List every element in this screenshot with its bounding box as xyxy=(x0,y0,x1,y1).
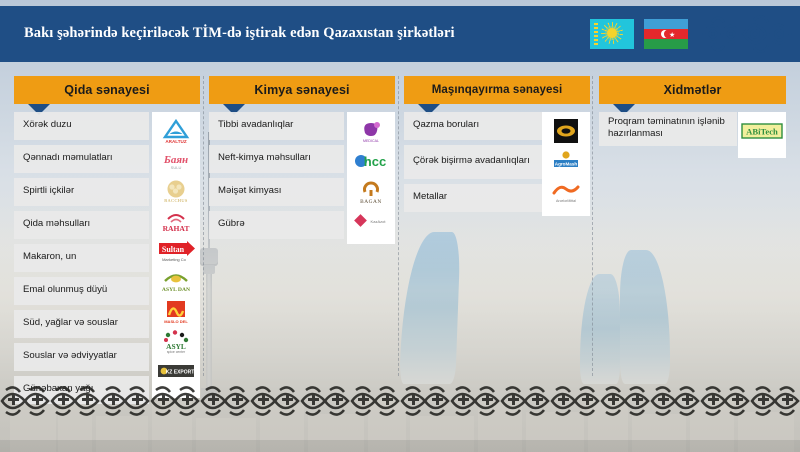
list-item[interactable]: Emal olunmuş düyü xyxy=(14,277,149,305)
column-title: Kimya sənayesi xyxy=(209,76,395,104)
column-services: Xidmətlər ABiTech Proqram təminatının iş… xyxy=(599,76,786,151)
abitech-logo: ABiTech xyxy=(740,116,784,146)
araltuz-logo: ARALTUZ xyxy=(154,116,198,146)
item-list: Proqram təminatının işlənib hazırlanması xyxy=(599,112,737,146)
list-item[interactable]: Neft-kimya məhsulları xyxy=(209,145,344,173)
drill-pipes-logo xyxy=(544,116,588,146)
list-item[interactable]: Qənnadı məmulatları xyxy=(14,145,149,173)
svg-text:KZ EXPORT: KZ EXPORT xyxy=(166,370,195,376)
arcelormittal-logo: ArcelorMittal xyxy=(544,176,588,206)
list-item[interactable]: Məişət kimyası xyxy=(209,178,344,206)
fertilizer-logo: KazAzot xyxy=(349,206,393,236)
logo-panel: MEDICAL hcc BAGAN xyxy=(347,112,395,244)
medical-equipment-logo: MEDICAL xyxy=(349,116,393,146)
column-food-industry: Qida sənayesi ARALTUZ Баян SULU xyxy=(14,76,200,409)
list-item[interactable]: Qazma boruları xyxy=(404,112,542,140)
column-title: Maşınqayırma sənayesi xyxy=(404,76,590,104)
bacchus-logo: BACCHUS xyxy=(154,176,198,206)
page-title: Bakı şəhərində keçiriləcək TİM-də iştira… xyxy=(0,23,590,44)
bhcc-logo: hcc xyxy=(349,146,393,176)
columns-area: Qida sənayesi ARALTUZ Баян SULU xyxy=(0,76,800,396)
list-item[interactable]: Spirtli içkilər xyxy=(14,178,149,206)
svg-text:MEDICAL: MEDICAL xyxy=(363,139,379,143)
column-separator-3 xyxy=(592,76,593,376)
svg-text:BACCHUS: BACCHUS xyxy=(164,198,188,203)
kazakhstan-flag xyxy=(590,19,634,49)
list-item[interactable]: Makaron, un xyxy=(14,244,149,272)
item-list: Xörək duzu Qənnadı məmulatları Spirtli i… xyxy=(14,112,149,404)
column-separator-2 xyxy=(398,76,399,376)
svg-text:AgroMash: AgroMash xyxy=(555,161,578,166)
list-item[interactable]: Proqram təminatının işlənib hazırlanması xyxy=(599,112,737,146)
rahat-logo: RAHAT xyxy=(154,206,198,236)
list-item[interactable]: Tibbi avadanlıqlar xyxy=(209,112,344,140)
bagan-logo: BAGAN xyxy=(349,176,393,206)
svg-text:BAGAN: BAGAN xyxy=(360,199,382,205)
list-item[interactable]: Metallar xyxy=(404,184,542,212)
maslo-del-logo: MASLO DEL xyxy=(154,296,198,326)
logo-panel: ARALTUZ Баян SULU xyxy=(152,112,200,398)
asyl-logo: ASYL spice center xyxy=(154,326,198,356)
header-flags: ★ xyxy=(590,6,800,62)
footer-strip xyxy=(0,440,800,452)
logo-panel: ABiTech xyxy=(738,112,786,158)
kz-export-logo: KZ EXPORT xyxy=(154,356,198,386)
column-title: Xidmətlər xyxy=(599,76,786,104)
column-separator-1 xyxy=(203,76,204,376)
svg-text:ASYL DAN: ASYL DAN xyxy=(162,287,190,293)
svg-text:Marketing Co: Marketing Co xyxy=(162,257,187,262)
logo-panel: AgroMash ArcelorMittal xyxy=(542,112,590,216)
svg-text:Sultan: Sultan xyxy=(162,245,185,254)
svg-text:SULU: SULU xyxy=(171,165,182,170)
svg-text:ARALTUZ: ARALTUZ xyxy=(165,139,187,144)
bakery-equip-logo: AgroMash xyxy=(544,146,588,176)
svg-text:RAHAT: RAHAT xyxy=(163,224,190,233)
list-item[interactable]: Xörək duzu xyxy=(14,112,149,140)
column-title: Qida sənayesi xyxy=(14,76,200,104)
list-item[interactable]: Souslar və ədviyyatlar xyxy=(14,343,149,371)
asyl-dan-logo: ASYL DAN xyxy=(154,266,198,296)
column-machinery-industry: Maşınqayırma sənayesi xyxy=(404,76,590,217)
item-list: Tibbi avadanlıqlar Neft-kimya məhsulları… xyxy=(209,112,344,239)
item-list: Qazma boruları Çörək bişirmə avadanlıqla… xyxy=(404,112,542,212)
azerbaijan-flag: ★ xyxy=(644,19,688,49)
sultan-logo: Sultan Marketing Co xyxy=(154,236,198,266)
header-bar: Bakı şəhərində keçiriləcək TİM-də iştira… xyxy=(0,6,800,62)
svg-text:ArcelorMittal: ArcelorMittal xyxy=(556,199,576,203)
svg-text:ABiTech: ABiTech xyxy=(746,127,778,137)
list-item[interactable]: Süd, yağlar və souslar xyxy=(14,310,149,338)
svg-text:KazAzot: KazAzot xyxy=(371,219,387,224)
svg-text:MASLO DEL: MASLO DEL xyxy=(164,319,188,324)
poster: Bakı şəhərində keçiriləcək TİM-də iştira… xyxy=(0,0,800,452)
list-item[interactable]: Çörək bişirmə avadanlıqları xyxy=(404,145,542,179)
bayan-sulu-logo: Баян SULU xyxy=(154,146,198,176)
svg-text:hcc: hcc xyxy=(364,154,386,169)
svg-text:spice center: spice center xyxy=(167,350,186,354)
list-item[interactable]: Gübrə xyxy=(209,211,344,239)
column-chemical-industry: Kimya sənayesi MEDICAL hcc xyxy=(209,76,395,244)
list-item[interactable]: Qida məhsulları xyxy=(14,211,149,239)
kazakh-ornament-icon xyxy=(698,12,794,56)
bottom-ornament-band xyxy=(0,384,800,418)
